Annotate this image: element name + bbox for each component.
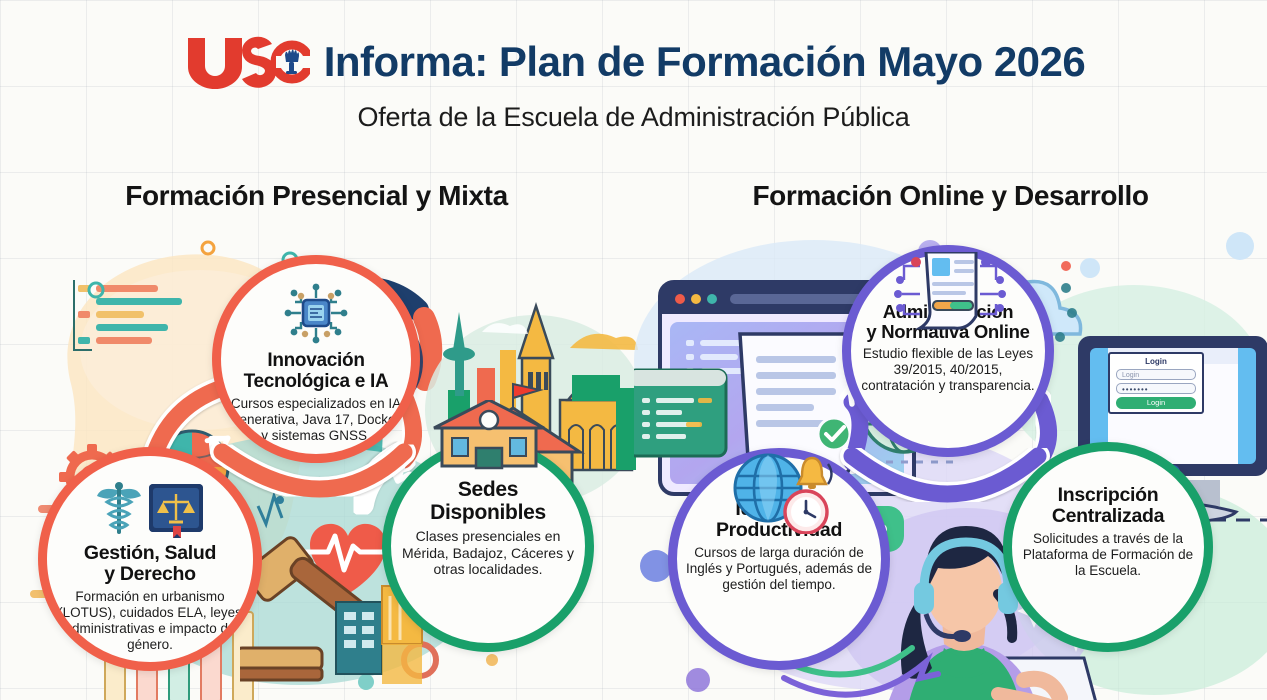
node-sedes[interactable]: Sedes Disponibles Clases presenciales en… — [382, 440, 594, 652]
node-administracion[interactable]: Administración y Normativa Online Estudi… — [842, 245, 1054, 457]
node-gestion[interactable]: Gestión, Salud y Derecho Formación en ur… — [38, 447, 262, 671]
page-title: Informa: Plan de Formación Mayo 2026 — [324, 41, 1086, 83]
caduceus-lawbook-icon — [91, 480, 209, 543]
node-body: Formación en urbanismo (LOTUS), cuidados… — [54, 589, 246, 653]
node-innovacion[interactable]: Innovación Tecnológica e IA Cursos espec… — [212, 255, 420, 463]
node-title: Administración y Normativa Online — [866, 302, 1029, 342]
node-title: Innovación Tecnológica e IA — [244, 351, 389, 392]
node-body: Cursos especializados en IA generativa, … — [227, 396, 405, 444]
node-body: Cursos de larga duración de Inglés y Por… — [683, 545, 875, 593]
node-title: Inscripción Centralizada — [1052, 485, 1164, 527]
node-body: Estudio flexible de las Leyes 39/2015, 4… — [857, 346, 1039, 394]
section-heading-presencial: Formación Presencial y Mixta — [0, 180, 633, 212]
uso-logo — [182, 34, 310, 90]
node-title: Idiomas y Productividad — [716, 499, 842, 541]
login-submit-button[interactable]: Login — [1116, 397, 1196, 409]
node-title: Sedes Disponibles — [430, 479, 546, 524]
login-password-input[interactable]: ••••••• — [1116, 383, 1196, 394]
login-username-input[interactable]: Login — [1116, 369, 1196, 380]
microchip-ai-icon — [279, 282, 353, 349]
infographic-canvas: Informa: Plan de Formación Mayo 2026 Ofe… — [0, 0, 1267, 700]
node-body: Clases presenciales en Mérida, Badajoz, … — [396, 528, 580, 578]
node-idiomas[interactable]: Idiomas y Productividad Cursos de larga … — [668, 448, 890, 670]
header: Informa: Plan de Formación Mayo 2026 Ofe… — [0, 0, 1267, 158]
node-title: Gestión, Salud y Derecho — [84, 543, 216, 585]
login-form[interactable]: Login Login ••••••• Login — [1108, 352, 1204, 414]
login-form-title: Login — [1145, 357, 1167, 366]
section-heading-online: Formación Online y Desarrollo — [634, 180, 1267, 212]
node-body: Solicitudes a través de la Plataforma de… — [1018, 531, 1198, 579]
node-inscripcion[interactable]: Inscripción Centralizada Solicitudes a t… — [1003, 442, 1213, 652]
page-subtitle: Oferta de la Escuela de Administración P… — [0, 102, 1267, 133]
